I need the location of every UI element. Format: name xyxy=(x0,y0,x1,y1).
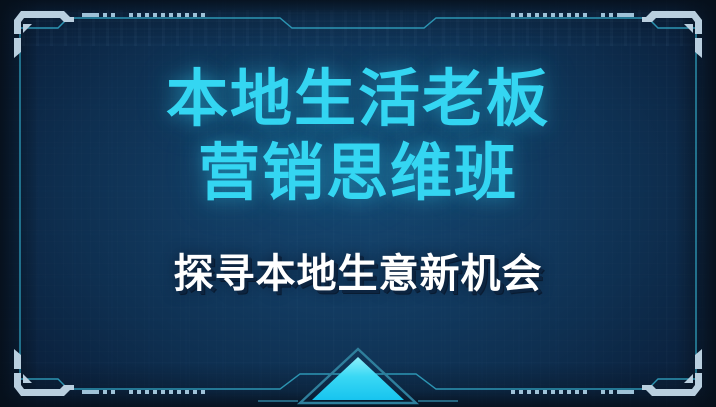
title-line-1: 本地生活老板 xyxy=(166,62,550,136)
triangle-emblem-icon xyxy=(258,345,458,407)
poster-canvas: 本地生活老板 营销思维班 探寻本地生意新机会 xyxy=(0,0,716,407)
title-line-2: 营销思维班 xyxy=(166,136,550,210)
title-block: 本地生活老板 营销思维班 xyxy=(166,62,550,210)
poster-subtitle: 探寻本地生意新机会 xyxy=(174,250,543,298)
